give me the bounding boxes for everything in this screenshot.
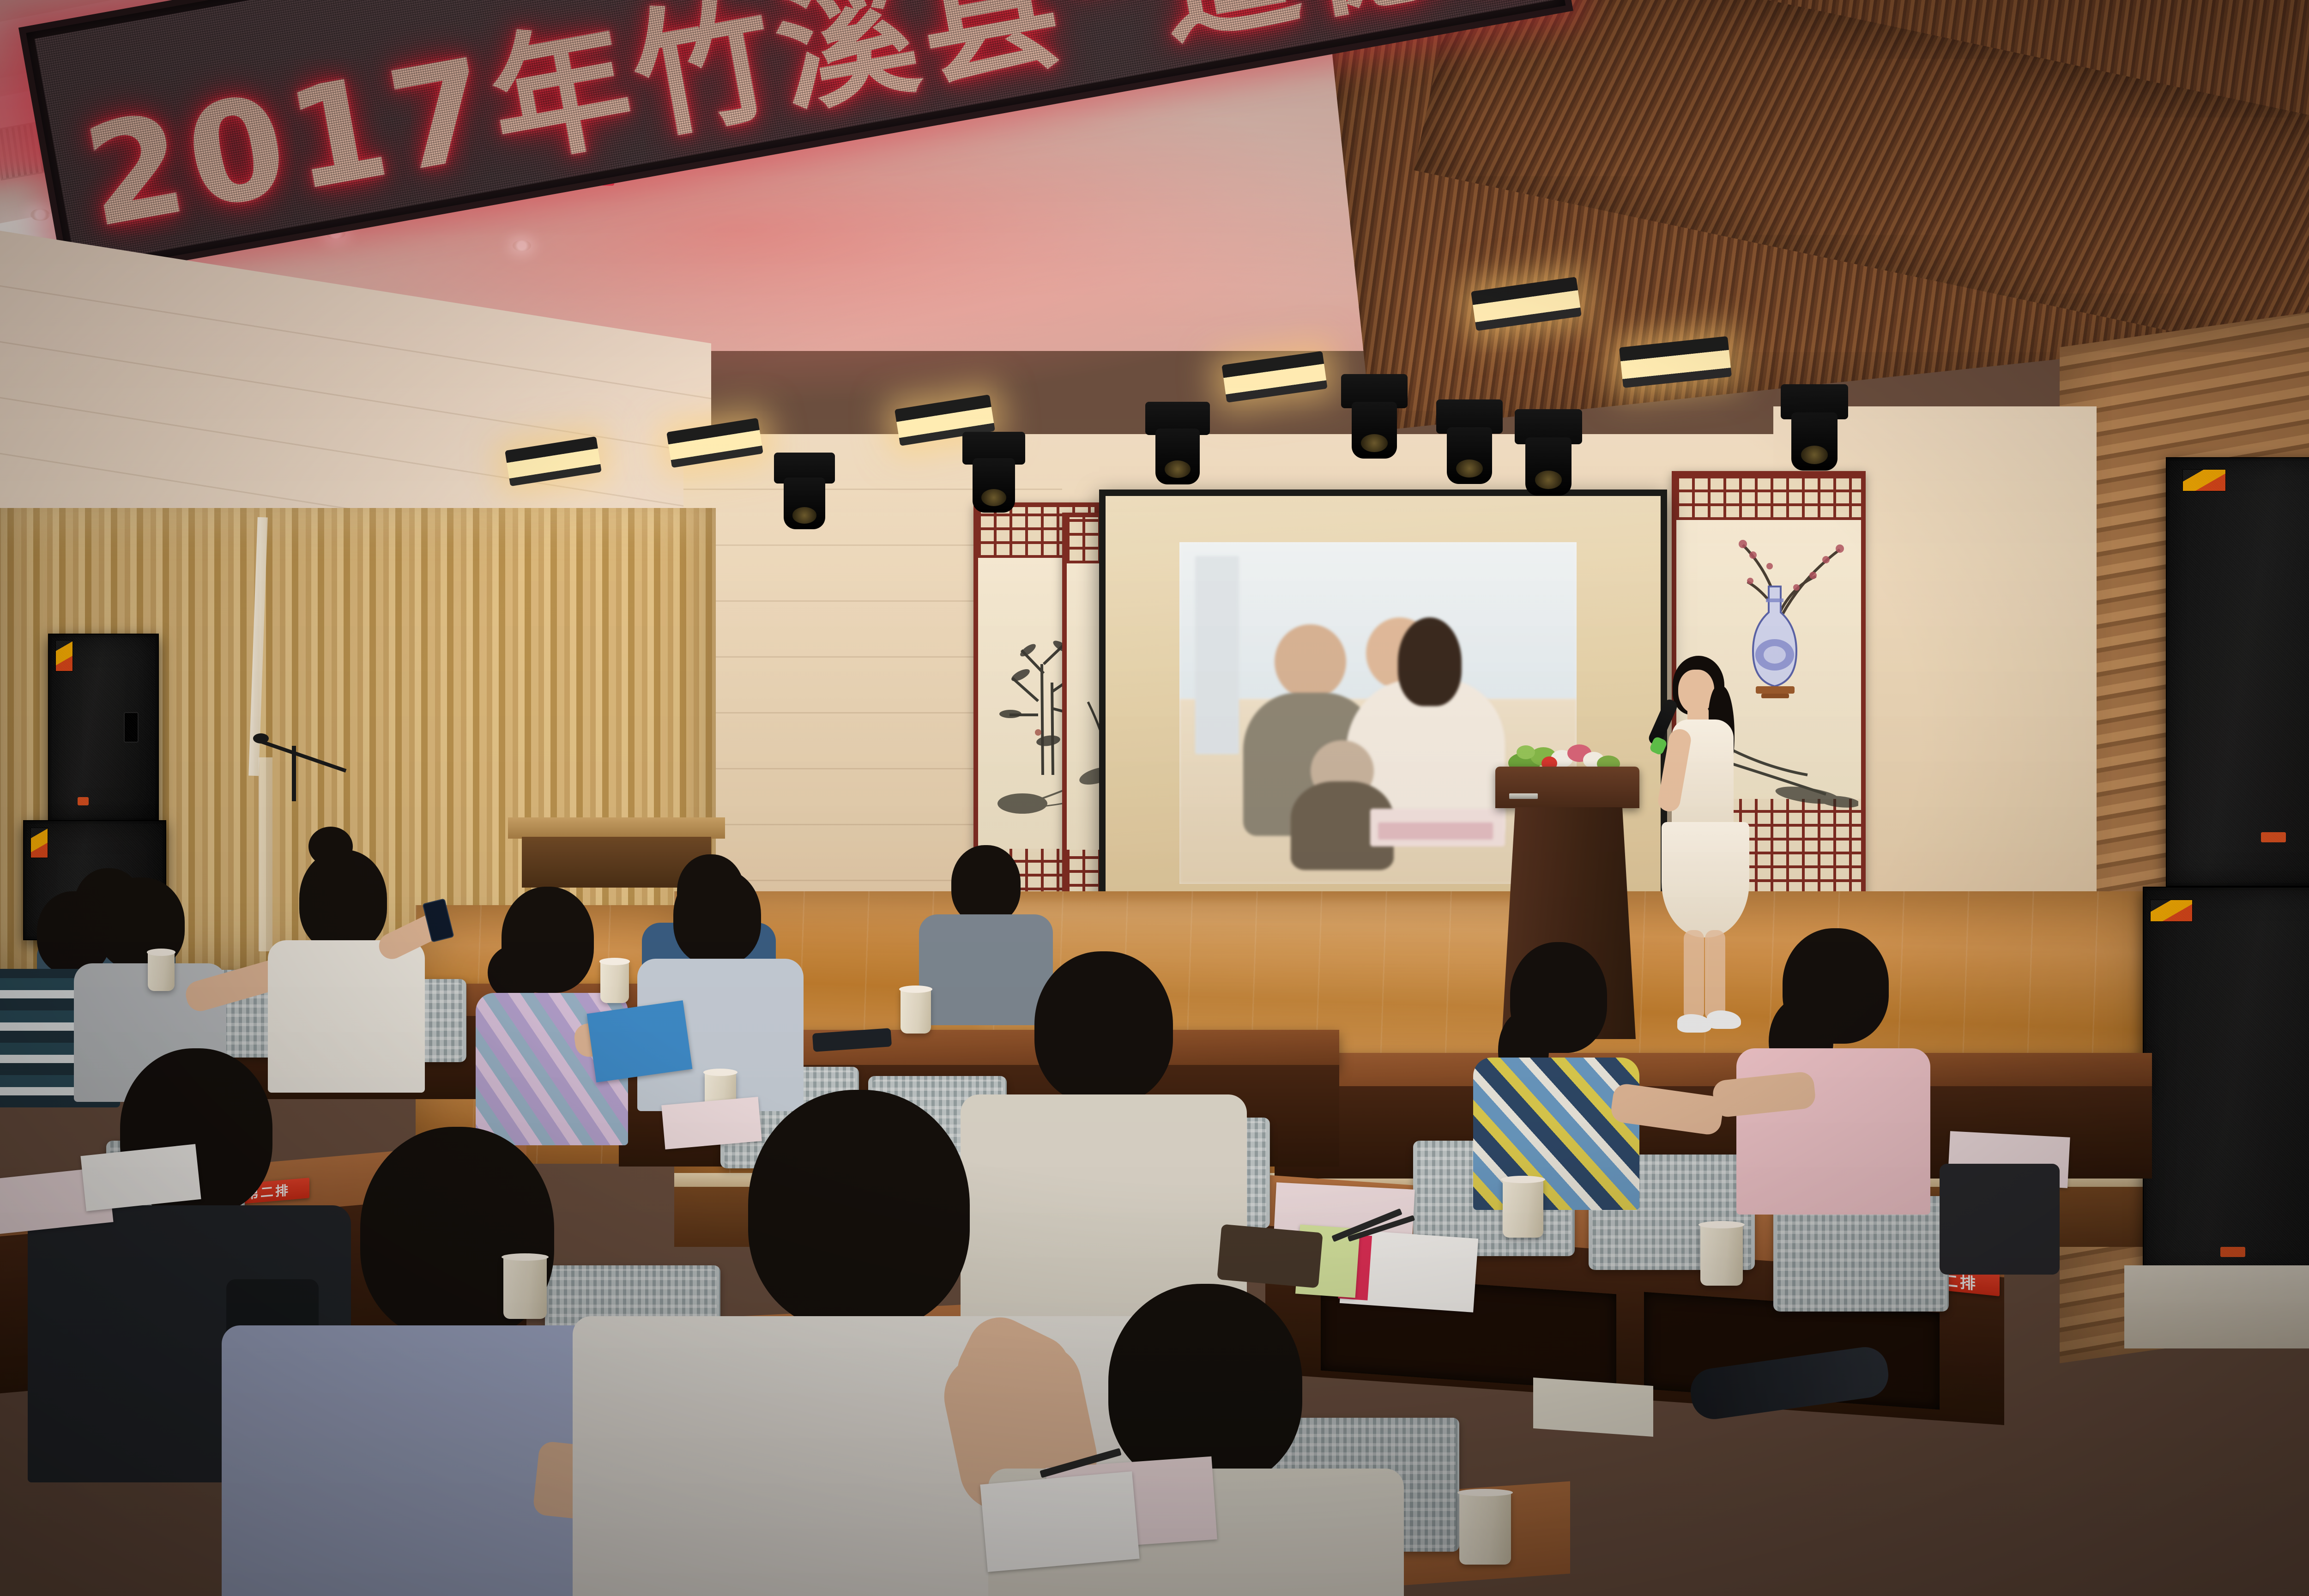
- torso: [1736, 1048, 1930, 1215]
- moving-head-light: [1515, 409, 1582, 492]
- document-on-shelf: [1533, 1378, 1653, 1437]
- head: [951, 845, 1021, 924]
- head: [299, 850, 387, 951]
- notepad: [1340, 1229, 1478, 1312]
- paper-cup: [600, 961, 629, 1003]
- smartphone-on-desk: [1217, 1224, 1323, 1288]
- head: [673, 868, 761, 965]
- audience-desk-row-far-right: [1275, 1053, 2152, 1090]
- speaker-badge: [30, 828, 48, 858]
- speaker-floor-base: [2124, 1265, 2309, 1348]
- blue-folder: [587, 1000, 693, 1082]
- speaker-badge: [2150, 900, 2193, 922]
- brand-logo: [2261, 832, 2286, 842]
- handbag: [1940, 1164, 2060, 1275]
- downlight: [513, 240, 531, 251]
- stage-floodlight: [1221, 351, 1327, 403]
- lattice-top: [1676, 476, 1861, 520]
- speaker-port: [124, 712, 139, 743]
- paper-cup: [503, 1256, 547, 1319]
- pink-handout: [661, 1097, 762, 1149]
- notepad: [980, 1471, 1139, 1572]
- moving-head-light: [962, 432, 1025, 509]
- paper-cup: [148, 951, 175, 991]
- podium-nameplate: [1509, 793, 1538, 799]
- head: [1034, 951, 1173, 1104]
- paper-cup: [1700, 1224, 1743, 1286]
- paper-cup: [1503, 1179, 1543, 1238]
- moving-head-light: [774, 453, 835, 526]
- downlight: [30, 209, 50, 221]
- audience-member: [1723, 928, 1963, 1242]
- speaker-badge: [55, 640, 73, 671]
- podium-top: [1495, 767, 1639, 808]
- brand-logo: [2220, 1247, 2245, 1257]
- stage-side-table: [508, 817, 725, 839]
- mic-stand-head: [253, 733, 269, 744]
- loudspeaker-cabinet-right-bottom: [2143, 887, 2309, 1275]
- moving-head-light: [1781, 384, 1848, 467]
- moving-head-light: [1145, 402, 1210, 481]
- loudspeaker-cabinet-right-top: [2166, 457, 2309, 887]
- auditorium-photo: 2017年竹溪县“道德讲堂”总堂第二讲（中医院专场）: [0, 0, 2309, 1596]
- brand-logo: [78, 797, 89, 805]
- paper-cup: [1459, 1492, 1511, 1565]
- torso: [1473, 1058, 1639, 1210]
- speaker-badge: [2182, 469, 2226, 491]
- presenter-dress-skirt: [1662, 822, 1749, 937]
- presenter-leg-left: [1684, 930, 1704, 1021]
- projected-person-man: [1275, 624, 1346, 700]
- moving-head-light: [1436, 399, 1503, 481]
- moving-head-light: [1341, 374, 1408, 455]
- loudspeaker-cabinet-left-top: [48, 634, 159, 822]
- head: [748, 1090, 970, 1330]
- hair-bun: [488, 945, 543, 1000]
- audience-member: [1459, 942, 1681, 1238]
- paper-cup: [901, 988, 931, 1034]
